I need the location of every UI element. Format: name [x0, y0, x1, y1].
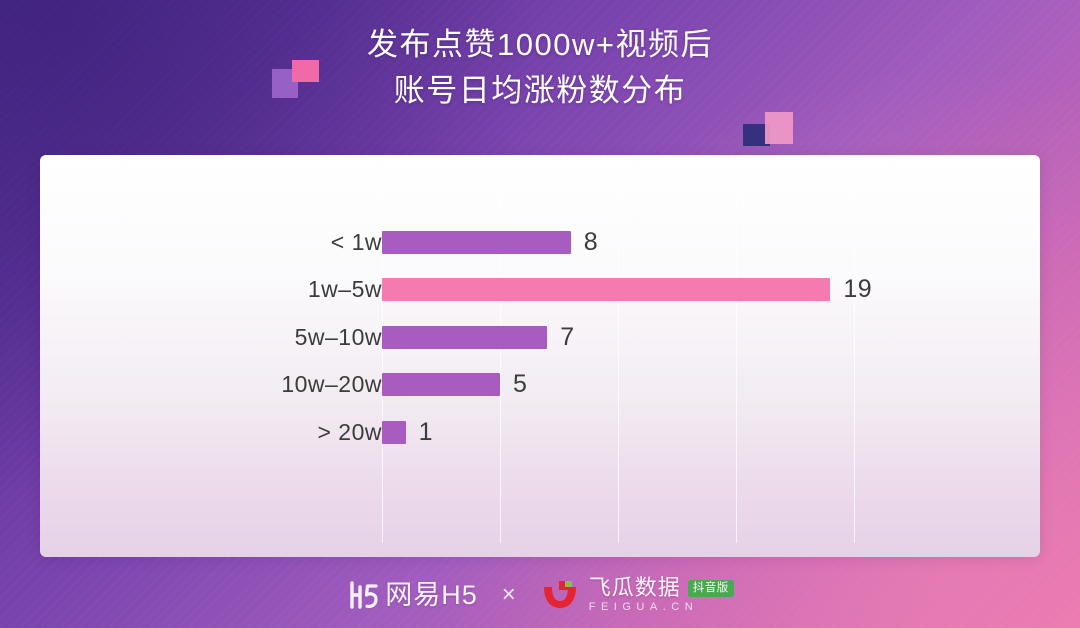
- netease-label: 网易H5: [385, 580, 478, 610]
- category-label: 1w–5w: [40, 276, 382, 303]
- bar-group: 8: [382, 231, 598, 254]
- chart-card: < 1w81w–5w195w–10w710w–20w5> 20w1 （天数从10…: [40, 155, 1040, 557]
- chart-row: 5w–10w7: [40, 322, 1040, 352]
- chart-row: 10w–20w5: [40, 370, 1040, 400]
- feigua-logo-icon: [540, 578, 580, 612]
- chart-row: 1w–5w19: [40, 275, 1040, 305]
- bar-value-label: 5: [513, 373, 527, 396]
- feigua-badge: 抖音版: [688, 580, 734, 597]
- pink-square-icon: [292, 60, 319, 82]
- bar-group: 19: [382, 278, 872, 301]
- category-label: 5w–10w: [40, 324, 382, 351]
- infographic-canvas: 发布点赞1000w+视频后 账号日均涨粉数分布 < 1w81w–5w195w–1…: [0, 0, 1080, 628]
- bar-value-label: 7: [560, 326, 574, 349]
- footer-branding: 网易H5 × 飞瓜数据 抖音版 FEIGUA.CN: [0, 576, 1080, 614]
- h5-logo-icon: [346, 578, 380, 612]
- bar: [382, 278, 830, 301]
- bar: [382, 231, 571, 254]
- bar-group: 7: [382, 326, 575, 349]
- bar-group: 1: [382, 421, 433, 444]
- bar-group: 5: [382, 373, 527, 396]
- decoration-left: [272, 60, 324, 100]
- bar: [382, 373, 500, 396]
- decoration-right: [743, 112, 795, 150]
- chart-row: < 1w8: [40, 227, 1040, 257]
- feigua-domain: FEIGUA.CN: [589, 601, 734, 614]
- pink-square-icon: [765, 112, 793, 144]
- header: 发布点赞1000w+视频后 账号日均涨粉数分布: [0, 22, 1080, 114]
- chart-gridlines: [40, 155, 1040, 557]
- category-label: < 1w: [40, 229, 382, 256]
- bar-value-label: 8: [584, 231, 598, 254]
- feigua-title-row: 飞瓜数据 抖音版: [589, 576, 734, 600]
- bar: [382, 326, 547, 349]
- title-line-1: 发布点赞1000w+视频后: [0, 22, 1080, 68]
- page-title: 发布点赞1000w+视频后 账号日均涨粉数分布: [0, 22, 1080, 114]
- feigua-brand: 飞瓜数据 抖音版 FEIGUA.CN: [540, 576, 734, 614]
- feigua-label: 飞瓜数据: [589, 576, 681, 600]
- feigua-text-block: 飞瓜数据 抖音版 FEIGUA.CN: [589, 576, 734, 614]
- category-label: 10w–20w: [40, 371, 382, 398]
- bar-value-label: 1: [419, 421, 433, 444]
- bar: [382, 421, 406, 444]
- title-line-2: 账号日均涨粉数分布: [0, 68, 1080, 114]
- chart-row: > 20w1: [40, 417, 1040, 447]
- netease-brand: 网易H5: [346, 578, 478, 612]
- category-label: > 20w: [40, 419, 382, 446]
- bar-value-label: 19: [843, 278, 872, 301]
- cross-icon: ×: [498, 581, 520, 609]
